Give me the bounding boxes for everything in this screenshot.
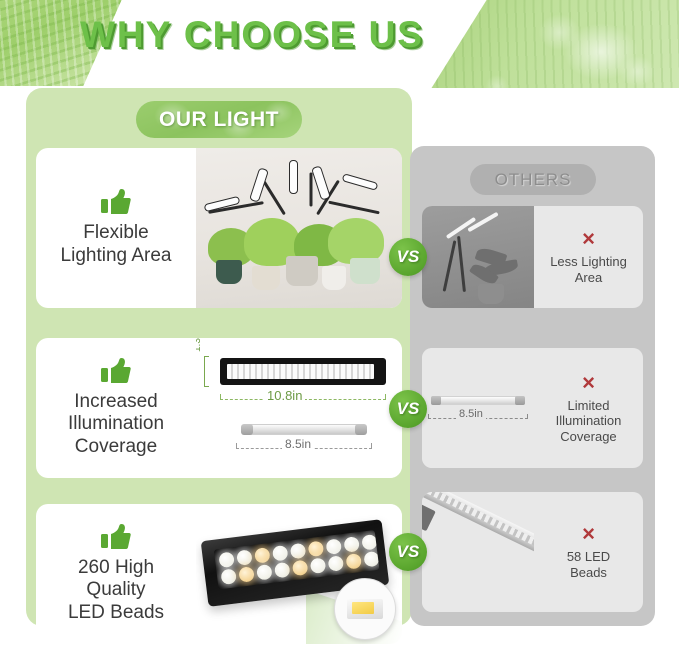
vs-badge-row-2: VS: [389, 390, 427, 428]
our-light-card-1-photo: [196, 148, 402, 308]
page-title: WHY CHOOSE US: [80, 14, 424, 56]
others-card-2-text: × Limited Illumination Coverage: [534, 348, 643, 468]
others-card-3-text: × 58 LED Beads: [534, 492, 643, 612]
height-dimension-label: 1.38in: [196, 338, 203, 352]
grow-light-plants-photo: [196, 148, 402, 308]
vs-badge-row-1: VS: [389, 238, 427, 276]
others-card-1-photo: [422, 206, 534, 308]
competitor-length-dimension-label: 8.5in: [282, 437, 314, 451]
thumbs-up-icon: [101, 189, 131, 215]
vs-badge-row-3: VS: [389, 533, 427, 571]
our-light-card-flexible-lighting: Flexible Lighting Area: [36, 148, 402, 308]
thumbs-up-icon: [101, 358, 131, 384]
our-light-card-3-text: 260 High Quality LED Beads: [36, 504, 196, 644]
x-mark-icon: ×: [582, 228, 595, 250]
smd-chip-icon: [347, 599, 383, 619]
our-light-card-led-beads: 260 High Quality LED Beads: [36, 504, 402, 644]
others-badge: OTHERS: [470, 164, 596, 195]
our-light-card-illumination-coverage: Increased Illumination Coverage 1.38in 1…: [36, 338, 402, 478]
our-light-card-3-label: 260 High Quality LED Beads: [68, 557, 164, 623]
size-comparison-diagram: 1.38in 10.8in 8.5in: [196, 338, 402, 478]
length-dimension-label: 10.8in: [264, 388, 305, 403]
others-card-led-beads: × 58 LED Beads: [422, 492, 643, 612]
competitor-tube-illustration: [432, 396, 524, 405]
led-strip-endcap: [422, 503, 436, 532]
others-card-less-lighting: × Less Lighting Area: [422, 206, 643, 308]
our-light-card-2-label: Increased Illumination Coverage: [68, 391, 164, 457]
our-light-card-1-label: Flexible Lighting Area: [61, 222, 172, 266]
competitor-length-dimension-label: 8.5in: [456, 408, 486, 420]
others-card-1-text: × Less Lighting Area: [534, 206, 643, 308]
thumbs-up-icon: [101, 524, 131, 550]
competitor-led-strip-photo: [422, 492, 534, 612]
led-bar-photo: [196, 504, 402, 644]
our-light-card-2-text: Increased Illumination Coverage: [36, 338, 196, 478]
competitor-lamp-photo: [422, 206, 534, 308]
page-header: WHY CHOOSE US: [0, 0, 679, 88]
succulent-photo-decoration: [419, 0, 679, 88]
our-light-card-3-photo: [196, 504, 402, 644]
competitor-size-diagram: 8.5in: [422, 348, 534, 468]
height-dimension-line: [204, 356, 209, 387]
competitor-tube-illustration: [242, 424, 366, 435]
our-light-card-1-text: Flexible Lighting Area: [36, 148, 196, 308]
others-card-2-label: Limited Illumination Coverage: [556, 398, 622, 445]
our-light-card-2-diagram: 1.38in 10.8in 8.5in: [196, 338, 402, 478]
others-card-3-photo: [422, 492, 534, 612]
x-mark-icon: ×: [582, 523, 595, 545]
others-card-1-label: Less Lighting Area: [550, 254, 627, 285]
our-led-bar-illustration: [220, 358, 386, 385]
others-card-2-diagram: 8.5in: [422, 348, 534, 468]
others-card-3-label: 58 LED Beads: [567, 549, 610, 580]
led-strip-illustration: [422, 492, 534, 555]
our-light-badge: OUR LIGHT: [136, 101, 302, 138]
others-card-limited-coverage: 8.5in × Limited Illumination Coverage: [422, 348, 643, 468]
smd-chip-closeup: [334, 578, 396, 640]
x-mark-icon: ×: [582, 372, 595, 394]
